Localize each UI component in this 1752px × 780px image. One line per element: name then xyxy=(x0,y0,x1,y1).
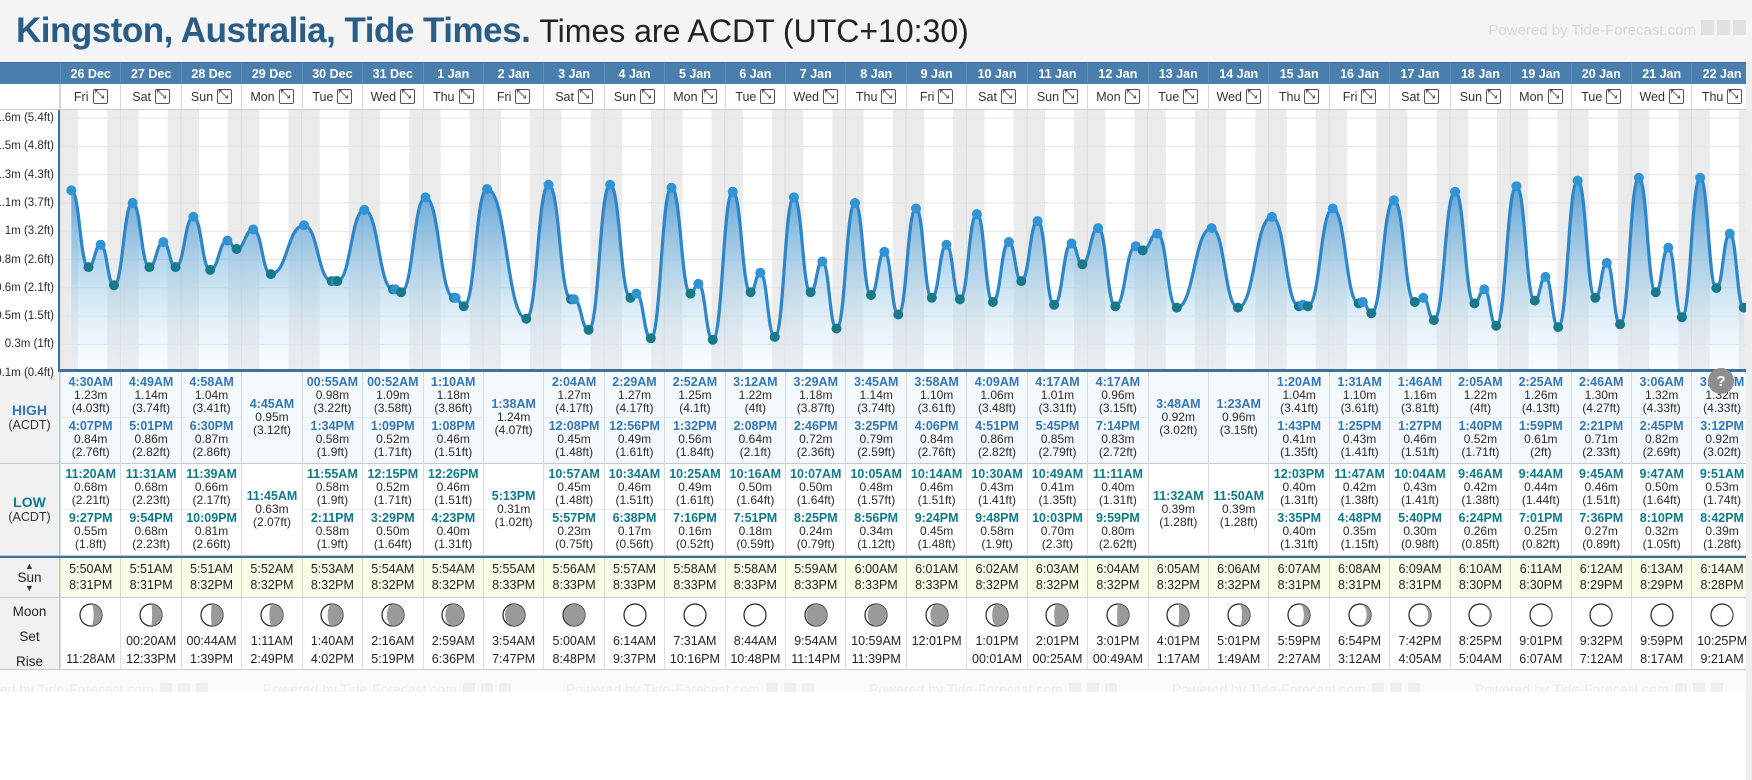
expand-icon[interactable] xyxy=(217,89,232,104)
moon-rise-time: 4:05AM xyxy=(1398,650,1441,668)
sun-cell: 5:50AM8:31PM xyxy=(60,558,120,599)
weekday-cell[interactable]: Fri xyxy=(906,84,966,109)
weekday-cell[interactable]: Sat xyxy=(120,84,180,109)
tide-time: 4:23PM xyxy=(424,511,483,525)
high-tide-cell: 3:58AM1.10m(3.61ft)4:06PM0.84m(2.76ft) xyxy=(906,372,966,464)
weekday-text: Tue xyxy=(1581,90,1602,104)
high-tide-event: 1:20AM1.04m(3.41ft) xyxy=(1269,374,1328,417)
tide-height-ft: (1.44ft) xyxy=(1511,494,1570,507)
moon-cell: 00:44AM1:39PM xyxy=(181,598,241,670)
low-tide-event: 8:42PM0.39m(1.28ft) xyxy=(1692,509,1751,553)
moon-set-time: 9:54AM xyxy=(794,632,837,650)
expand-icon[interactable] xyxy=(640,89,655,104)
tide-time: 3:06AM xyxy=(1632,375,1691,389)
tide-time: 4:45AM xyxy=(242,397,301,411)
expand-icon[interactable] xyxy=(1063,89,1078,104)
tide-time: 3:12AM xyxy=(726,375,785,389)
moon-times: 4:01PM1:17AM xyxy=(1157,632,1200,668)
moon-rise-time: 6:36PM xyxy=(432,650,475,668)
tide-time: 5:57PM xyxy=(544,511,603,525)
tide-height-ft: (1.15ft) xyxy=(1330,538,1389,551)
tide-height-m: 0.61m xyxy=(1511,433,1570,446)
tide-time: 3:35PM xyxy=(1269,511,1328,525)
high-tide-cell: 4:58AM1.04m(3.41ft)6:30PM0.87m(2.86ft) xyxy=(181,372,241,464)
tide-time: 2:46PM xyxy=(786,419,845,433)
moon-phase-icon xyxy=(501,602,527,628)
y-axis-label: 0.1m (0.4ft) xyxy=(0,367,54,379)
high-tide-event: 4:09AM1.06m(3.48ft) xyxy=(967,374,1026,417)
high-tide-event: 3:45AM1.14m(3.74ft) xyxy=(846,374,905,417)
tide-time: 4:06PM xyxy=(907,419,966,433)
tide-height-ft: (4.03ft) xyxy=(61,402,120,415)
tide-height-ft: (3.58ft) xyxy=(363,402,422,415)
tide-time: 10:30AM xyxy=(967,467,1026,481)
weekday-cell[interactable]: Tue xyxy=(725,84,785,109)
sun-cell: 5:58AM8:33PM xyxy=(664,558,724,599)
sun-cell: 6:00AM8:33PM xyxy=(845,558,905,599)
sunset-arrow-icon: ▼ xyxy=(25,585,34,592)
expand-icon[interactable] xyxy=(1183,89,1198,104)
expand-icon[interactable] xyxy=(823,89,838,104)
sunset-time: 8:28PM xyxy=(1701,577,1744,594)
weekday-cell[interactable]: Thu xyxy=(845,84,905,109)
tide-height-m: 0.43m xyxy=(1330,433,1389,446)
high-tide-event: 3:12AM1.22m(4ft) xyxy=(726,374,785,417)
tide-height-ft: (1.71ft) xyxy=(363,446,422,459)
footer-brand-icon xyxy=(196,683,208,693)
weekday-cell[interactable]: Sat xyxy=(1389,84,1449,109)
sunrise-time: 6:06AM xyxy=(1217,561,1260,578)
tide-time: 12:56PM xyxy=(605,419,664,433)
low-tide-event: 9:27PM0.55m(1.8ft) xyxy=(61,509,120,553)
low-tide-event: 11:31AM0.68m(2.23ft) xyxy=(121,466,180,509)
moon-phase-icon xyxy=(1528,602,1554,628)
sunrise-time: 6:13AM xyxy=(1640,561,1683,578)
tide-height-m: 0.16m xyxy=(665,525,724,538)
sunrise-time: 6:01AM xyxy=(915,561,958,578)
tide-height-ft: (3.81ft) xyxy=(1390,402,1449,415)
moon-rise-time: 7:47PM xyxy=(492,650,535,668)
tide-height-m: 0.87m xyxy=(182,433,241,446)
sunset-time: 8:30PM xyxy=(1519,577,1562,594)
sun-cell: 6:11AM8:30PM xyxy=(1510,558,1570,599)
tide-chart-page: Kingston, Australia, Tide Times. Times a… xyxy=(0,0,1752,780)
tide-height-m: 1.22m xyxy=(726,389,785,402)
high-tide-event: 1:23AM0.96m(3.15ft) xyxy=(1209,396,1268,439)
low-tide-cell: 10:14AM0.46m(1.51ft)9:24PM0.45m(1.48ft) xyxy=(906,464,966,556)
expand-icon[interactable] xyxy=(1548,89,1563,104)
weekday-cell[interactable]: Mon xyxy=(241,84,301,109)
tide-height-m: 0.52m xyxy=(363,433,422,446)
tide-height-ft: (4ft) xyxy=(726,402,785,415)
tide-time: 1:31AM xyxy=(1330,375,1389,389)
high-tide-row: HIGH (ACDT) 4:30AM1.23m(4.03ft)4:07PM0.8… xyxy=(0,372,1752,464)
y-axis-label: 0.8m (2.6ft) xyxy=(0,254,54,266)
date-header-cell: 14 Jan xyxy=(1208,63,1268,84)
tide-height-m: 0.68m xyxy=(61,481,120,494)
sunrise-time: 6:07AM xyxy=(1278,561,1321,578)
sunrise-time: 5:59AM xyxy=(794,561,837,578)
expand-icon[interactable] xyxy=(1001,89,1016,104)
expand-icon[interactable] xyxy=(337,89,352,104)
moon-phase-icon xyxy=(1286,602,1312,628)
moon-phase-icon xyxy=(924,602,950,628)
low-tide-event: 10:25AM0.49m(1.61ft) xyxy=(665,466,724,509)
moon-rise-time: 1:17AM xyxy=(1157,650,1200,668)
footer-brand-icon xyxy=(499,683,511,693)
weekday-cell[interactable]: Sun xyxy=(1027,84,1087,109)
low-tide-event: 12:15PM0.52m(1.71ft) xyxy=(363,466,422,509)
low-tide-event: 10:07AM0.50m(1.64ft) xyxy=(786,466,845,509)
moon-cell: 9:54AM11:14PM xyxy=(785,598,845,670)
moon-phase-icon xyxy=(803,602,829,628)
tide-time: 3:29PM xyxy=(363,511,422,525)
weekday-text: Wed xyxy=(371,90,396,104)
high-tide-cell: 1:46AM1.16m(3.81ft)1:27PM0.46m(1.51ft) xyxy=(1389,372,1449,464)
sunrise-time: 6:02AM xyxy=(975,561,1018,578)
sunrise-time: 5:53AM xyxy=(311,561,354,578)
tide-height-ft: (1.51ft) xyxy=(1390,446,1449,459)
weekday-text: Wed xyxy=(1216,90,1241,104)
expand-icon[interactable] xyxy=(1246,89,1261,104)
high-tide-event: 4:06PM0.84m(2.76ft) xyxy=(907,417,966,461)
weekday-cell[interactable]: Sun xyxy=(604,84,664,109)
low-tide-event: 3:35PM0.40m(1.31ft) xyxy=(1269,509,1328,553)
low-tide-cell: 11:45AM0.63m(2.07ft) xyxy=(241,464,301,556)
weekday-cell[interactable]: Thu xyxy=(1691,84,1751,109)
sunrise-time: 6:09AM xyxy=(1398,561,1441,578)
moon-set-time: 3:01PM xyxy=(1096,632,1139,650)
tide-time: 9:54PM xyxy=(121,511,180,525)
expand-icon[interactable] xyxy=(760,89,775,104)
sunset-time: 8:33PM xyxy=(915,577,958,594)
tide-time: 11:11AM xyxy=(1088,467,1147,481)
y-axis-label: 0.6m (2.1ft) xyxy=(0,282,54,294)
tide-height-ft: (3.87ft) xyxy=(786,402,845,415)
tide-time: 6:24PM xyxy=(1451,511,1510,525)
moon-rise-time: 1:49AM xyxy=(1217,650,1260,668)
tide-height-ft: (0.82ft) xyxy=(1511,538,1570,551)
expand-icon[interactable] xyxy=(1304,89,1319,104)
tide-height-ft: (1.48ft) xyxy=(907,538,966,551)
tide-height-m: 0.66m xyxy=(182,481,241,494)
tide-height-m: 1.25m xyxy=(665,389,724,402)
tide-height-m: 0.55m xyxy=(61,525,120,538)
low-tide-cell: 9:45AM0.46m(1.51ft)7:36PM0.27m(0.89ft) xyxy=(1571,464,1631,556)
date-header-cell: 5 Jan xyxy=(664,63,724,84)
tide-height-m: 0.39m xyxy=(1149,503,1208,516)
tide-time: 10:25AM xyxy=(665,467,724,481)
weekday-cell[interactable]: Sun xyxy=(1450,84,1510,109)
low-tide-event: 8:10PM0.32m(1.05ft) xyxy=(1632,509,1691,553)
moon-times: 1:11AM2:49PM xyxy=(250,632,293,668)
tide-height-m: 0.98m xyxy=(303,389,362,402)
weekday-text: Fri xyxy=(1343,90,1358,104)
high-tide-event: 1:31AM1.10m(3.61ft) xyxy=(1330,374,1389,417)
tide-height-m: 0.84m xyxy=(61,433,120,446)
tide-height-ft: (4.07ft) xyxy=(484,424,543,437)
vertical-scrollbar[interactable] xyxy=(1746,62,1752,780)
moon-cell: 9:32PM7:12AM xyxy=(1571,598,1631,670)
moon-rise-time: 10:16PM xyxy=(670,650,720,668)
tide-plot-area[interactable] xyxy=(60,110,1752,372)
high-tide-event: 2:05AM1.22m(4ft) xyxy=(1451,374,1510,417)
moon-phase-icon xyxy=(1649,602,1675,628)
moon-cell: 6:54PM3:12AM xyxy=(1329,598,1389,670)
expand-icon[interactable] xyxy=(578,89,593,104)
expand-icon[interactable] xyxy=(1424,89,1439,104)
tide-height-m: 0.50m xyxy=(726,481,785,494)
tide-height-m: 0.42m xyxy=(1330,481,1389,494)
moon-phase-icon xyxy=(380,602,406,628)
low-tide-cell: 10:57AM0.45m(1.48ft)5:57PM0.23m(0.75ft) xyxy=(543,464,603,556)
low-tide-event: 5:13PM0.31m(1.02ft) xyxy=(484,488,543,531)
moon-phase-icon xyxy=(259,602,285,628)
tide-height-ft: (2.66ft) xyxy=(182,538,241,551)
tide-time: 4:30AM xyxy=(61,375,120,389)
moon-phase-icon xyxy=(1588,602,1614,628)
low-tide-cell: 10:05AM0.48m(1.57ft)8:56PM0.34m(1.12ft) xyxy=(845,464,905,556)
moon-cell: 8:44AM10:48PM xyxy=(725,598,785,670)
moon-rise-time: 3:12AM xyxy=(1338,650,1381,668)
expand-icon[interactable] xyxy=(1606,89,1621,104)
moon-set-time: 3:54AM xyxy=(492,632,535,650)
weekday-cell[interactable]: Wed xyxy=(1631,84,1691,109)
weekday-cell[interactable]: Sat xyxy=(543,84,603,109)
footer-watermark: Powered by Tide-Forecast.com xyxy=(869,681,1117,692)
tide-height-m: 1.23m xyxy=(61,389,120,402)
tide-height-m: 0.25m xyxy=(1511,525,1570,538)
expand-icon[interactable] xyxy=(93,89,108,104)
tide-height-ft: (3.15ft) xyxy=(1209,424,1268,437)
expand-icon[interactable] xyxy=(400,89,415,104)
weekday-cell[interactable]: Tue xyxy=(1148,84,1208,109)
tide-height-ft: (1.51ft) xyxy=(424,494,483,507)
weekday-cell[interactable]: Sun xyxy=(181,84,241,109)
moon-set-time: 7:42PM xyxy=(1398,632,1441,650)
tide-height-m: 0.58m xyxy=(303,481,362,494)
tide-height-m: 0.17m xyxy=(605,525,664,538)
tide-time: 10:57AM xyxy=(544,467,603,481)
expand-icon[interactable] xyxy=(702,89,717,104)
low-tide-cell: 11:47AM0.42m(1.38ft)4:48PM0.35m(1.15ft) xyxy=(1329,464,1389,556)
tide-height-m: 1.24m xyxy=(484,411,543,424)
tide-time: 9:44AM xyxy=(1511,467,1570,481)
tide-height-m: 0.53m xyxy=(1692,481,1751,494)
moon-set-time: 00:20AM xyxy=(126,632,176,650)
moon-set-time: 5:59PM xyxy=(1278,632,1321,650)
tide-height-ft: (0.89ft) xyxy=(1572,538,1631,551)
tide-time: 9:48PM xyxy=(967,511,1026,525)
brand-icon-1 xyxy=(1701,20,1714,35)
moon-rise-time: 2:49PM xyxy=(250,650,293,668)
tide-height-m: 0.40m xyxy=(1269,481,1328,494)
low-tide-cell: 9:51AM0.53m(1.74ft)8:42PM0.39m(1.28ft) xyxy=(1691,464,1751,556)
tide-time: 9:59PM xyxy=(1088,511,1147,525)
moon-phase-icon xyxy=(1044,602,1070,628)
moon-set-time: 8:44AM xyxy=(734,632,777,650)
tide-time: 1:32PM xyxy=(665,419,724,433)
moon-phase-icon xyxy=(1407,602,1433,628)
sunset-time: 8:31PM xyxy=(1338,577,1381,594)
sunrise-time: 5:50AM xyxy=(69,561,112,578)
help-badge[interactable]: ? xyxy=(1708,368,1734,394)
tide-time: 1:25PM xyxy=(1330,419,1389,433)
high-tide-event: 4:07PM0.84m(2.76ft) xyxy=(61,417,120,461)
date-header-cell: 8 Jan xyxy=(845,63,905,84)
weekday-cell[interactable]: Wed xyxy=(785,84,845,109)
tide-height-ft: (1.41ft) xyxy=(967,494,1026,507)
tide-time: 12:08PM xyxy=(544,419,603,433)
moon-times: 3:54AM7:47PM xyxy=(492,632,535,668)
sun-cell: 5:51AM8:31PM xyxy=(120,558,180,599)
tide-height-m: 0.42m xyxy=(1451,481,1510,494)
sunrise-arrow-icon: ▲ xyxy=(25,563,34,570)
tide-height-ft: (1.71ft) xyxy=(1451,446,1510,459)
weekday-text: Fri xyxy=(920,90,935,104)
moon-cell: 1:40AM4:02PM xyxy=(302,598,362,670)
tide-height-ft: (1.51ft) xyxy=(605,494,664,507)
weekday-cell[interactable]: Tue xyxy=(1571,84,1631,109)
tide-height-ft: (1.9ft) xyxy=(967,538,1026,551)
tide-height-m: 0.84m xyxy=(907,433,966,446)
tide-time: 11:50AM xyxy=(1209,489,1268,503)
moon-rise-time: 11:14PM xyxy=(791,650,840,668)
tide-height-m: 0.49m xyxy=(605,433,664,446)
expand-icon[interactable] xyxy=(155,89,170,104)
tide-height-m: 1.30m xyxy=(1572,389,1631,402)
tide-time: 3:25PM xyxy=(846,419,905,433)
moon-cell: 11:28AM xyxy=(60,598,120,670)
sunset-time: 8:32PM xyxy=(250,577,293,594)
sun-cell: 5:53AM8:32PM xyxy=(302,558,362,599)
sunrise-time: 5:58AM xyxy=(673,561,716,578)
expand-icon[interactable] xyxy=(515,89,530,104)
tide-time: 3:45AM xyxy=(846,375,905,389)
sunset-time: 8:32PM xyxy=(371,577,414,594)
low-label-tz: (ACDT) xyxy=(8,510,50,524)
tide-height-ft: (1.64ft) xyxy=(363,538,422,551)
sunset-time: 8:31PM xyxy=(69,577,112,594)
high-tide-event: 1:08PM0.46m(1.51ft) xyxy=(424,417,483,461)
low-label-text: LOW xyxy=(13,494,46,510)
footer-watermark: Powered by Tide-Forecast.com xyxy=(1172,681,1420,692)
weekday-cell[interactable]: Thu xyxy=(1268,84,1328,109)
tide-height-ft: (3.15ft) xyxy=(1088,402,1147,415)
moon-label-text: Moon xyxy=(13,604,47,619)
expand-icon[interactable] xyxy=(938,89,953,104)
expand-icon[interactable] xyxy=(881,89,896,104)
tide-height-ft: (2.69ft) xyxy=(1632,446,1691,459)
weekday-cell[interactable]: Wed xyxy=(1208,84,1268,109)
low-tide-cell: 12:26PM0.46m(1.51ft)4:23PM0.40m(1.31ft) xyxy=(423,464,483,556)
tide-time: 4:09AM xyxy=(967,375,1026,389)
weekday-text: Sat xyxy=(1401,90,1420,104)
tide-height-ft: (1.41ft) xyxy=(1330,446,1389,459)
weekday-cell[interactable]: Tue xyxy=(302,84,362,109)
tide-height-m: 0.70m xyxy=(1028,525,1087,538)
tide-time: 7:16PM xyxy=(665,511,724,525)
weekday-cell[interactable]: Thu xyxy=(423,84,483,109)
tide-time: 8:10PM xyxy=(1632,511,1691,525)
date-header-cell: 11 Jan xyxy=(1027,63,1087,84)
moon-set-time: 5:01PM xyxy=(1217,632,1260,650)
tide-height-ft: (1.35ft) xyxy=(1028,494,1087,507)
weekday-text: Thu xyxy=(1702,90,1724,104)
sun-cell: 5:55AM8:33PM xyxy=(483,558,543,599)
weekday-text: Mon xyxy=(1519,90,1543,104)
weekday-text: Tue xyxy=(735,90,756,104)
sun-cell: 6:04AM8:32PM xyxy=(1087,558,1147,599)
expand-icon[interactable] xyxy=(1486,89,1501,104)
tide-height-m: 0.49m xyxy=(665,481,724,494)
weekday-cell[interactable]: Wed xyxy=(362,84,422,109)
weekday-cell[interactable]: Fri xyxy=(1329,84,1389,109)
tide-height-m: 1.10m xyxy=(1330,389,1389,402)
sunrise-time: 6:10AM xyxy=(1459,561,1502,578)
moon-phase-icon xyxy=(622,602,648,628)
high-tide-event: 4:17AM0.96m(3.15ft) xyxy=(1088,374,1147,417)
weekday-cell[interactable]: Mon xyxy=(1087,84,1147,109)
date-header-cell: 22 Jan xyxy=(1691,63,1751,84)
tide-height-ft: (1.38ft) xyxy=(1330,494,1389,507)
weekday-cell[interactable]: Fri xyxy=(483,84,543,109)
sunrise-time: 6:03AM xyxy=(1036,561,1079,578)
sunrise-time: 6:00AM xyxy=(855,561,898,578)
high-tide-cell: 2:52AM1.25m(4.1ft)1:32PM0.56m(1.84ft) xyxy=(664,372,724,464)
moon-times: 8:44AM10:48PM xyxy=(730,632,780,668)
footer-brand-icon xyxy=(178,683,190,693)
high-tide-cell: 1:31AM1.10m(3.61ft)1:25PM0.43m(1.41ft) xyxy=(1329,372,1389,464)
low-tide-event: 11:32AM0.39m(1.28ft) xyxy=(1149,488,1208,531)
moon-set-time: 2:59AM xyxy=(432,632,475,650)
tide-time: 5:45PM xyxy=(1028,419,1087,433)
tide-height-m: 0.58m xyxy=(303,433,362,446)
weekday-cell[interactable]: Mon xyxy=(664,84,724,109)
expand-icon[interactable] xyxy=(1361,89,1376,104)
tide-height-m: 1.18m xyxy=(786,389,845,402)
weekday-cell[interactable]: Fri xyxy=(60,84,120,109)
expand-icon[interactable] xyxy=(1125,89,1140,104)
weekday-cell[interactable]: Mon xyxy=(1510,84,1570,109)
sunrise-time: 5:52AM xyxy=(250,561,293,578)
sun-cell: 6:03AM8:32PM xyxy=(1027,558,1087,599)
tide-height-ft: (3.41ft) xyxy=(1269,402,1328,415)
sunset-time: 8:33PM xyxy=(492,577,535,594)
expand-icon[interactable] xyxy=(1727,89,1742,104)
weekday-text: Thu xyxy=(1279,90,1301,104)
tide-height-m: 1.27m xyxy=(544,389,603,402)
tide-height-ft: (1.64ft) xyxy=(786,494,845,507)
tide-height-m: 0.50m xyxy=(1632,481,1691,494)
tide-height-m: 0.43m xyxy=(1390,481,1449,494)
sunset-time: 8:30PM xyxy=(1459,577,1502,594)
low-tide-event: 9:46AM0.42m(1.38ft) xyxy=(1451,466,1510,509)
tide-height-m: 0.41m xyxy=(1269,433,1328,446)
tide-height-m: 0.46m xyxy=(907,481,966,494)
low-tide-event: 10:16AM0.50m(1.64ft) xyxy=(726,466,785,509)
weekday-cell[interactable]: Sat xyxy=(966,84,1026,109)
tide-height-m: 0.71m xyxy=(1572,433,1631,446)
tide-time: 1:38AM xyxy=(484,397,543,411)
expand-icon[interactable] xyxy=(1669,89,1684,104)
moon-rise-time: 1:39PM xyxy=(190,650,233,668)
expand-icon[interactable] xyxy=(279,89,294,104)
tide-time: 7:14PM xyxy=(1088,419,1147,433)
expand-icon[interactable] xyxy=(459,89,474,104)
tide-height-ft: (1.51ft) xyxy=(907,494,966,507)
tide-height-ft: (1.41ft) xyxy=(1390,494,1449,507)
